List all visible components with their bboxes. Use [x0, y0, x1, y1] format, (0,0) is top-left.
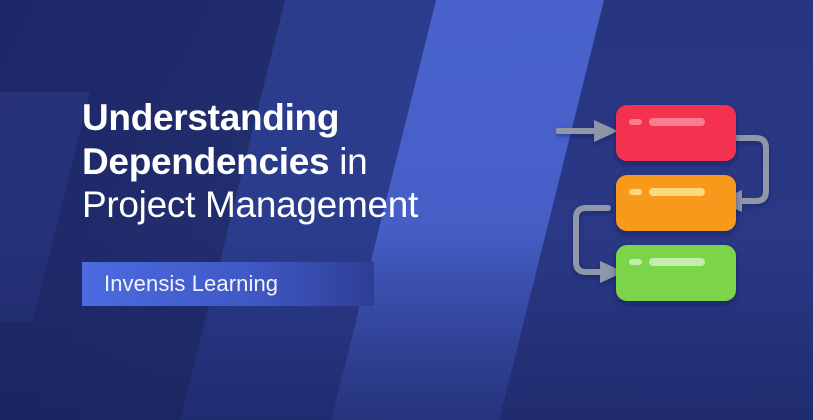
brand-name-label: Invensis Learning	[82, 271, 278, 297]
headline-line-1-text: Understanding	[82, 97, 339, 138]
dependency-flowchart	[556, 96, 786, 316]
headline-block: Understanding Dependencies in Project Ma…	[82, 96, 552, 227]
connector-entry-to-red	[558, 120, 618, 142]
task-node-red[interactable]	[616, 105, 736, 161]
flowchart-svg	[556, 96, 786, 316]
headline-line-3-text: Project Management	[82, 184, 418, 225]
headline-line-3: Project Management	[82, 183, 552, 227]
task-node-green[interactable]	[616, 245, 736, 301]
headline-line-2: Dependencies in	[82, 140, 552, 184]
headline-line-2-strong-text: Dependencies	[82, 141, 329, 182]
headline-line-2-light-text: in	[329, 141, 367, 182]
course-promo-banner: Understanding Dependencies in Project Ma…	[0, 0, 813, 420]
brand-subtitle-bar: Invensis Learning	[82, 262, 374, 306]
headline-line-1: Understanding	[82, 96, 552, 140]
page-title: Understanding Dependencies in Project Ma…	[82, 96, 552, 227]
task-node-orange[interactable]	[616, 175, 736, 231]
